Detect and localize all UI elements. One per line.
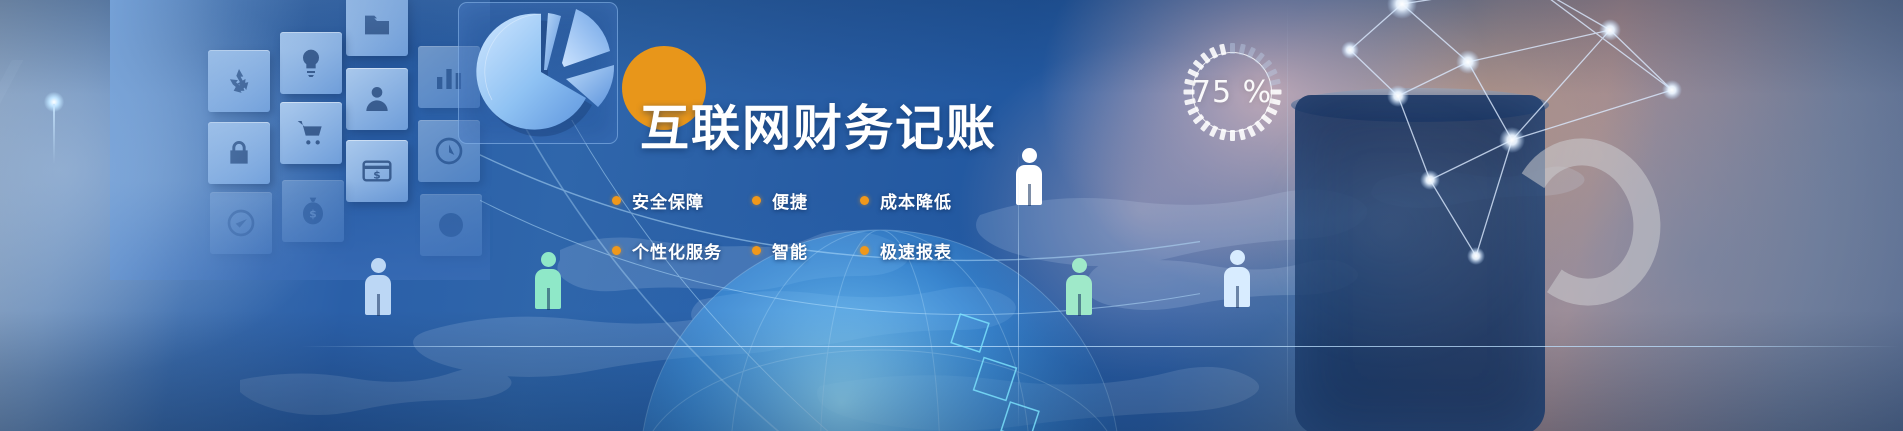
svg-text:$: $: [373, 168, 380, 181]
bullet-dot-icon: [860, 246, 869, 255]
feature-label: 便捷: [772, 188, 808, 213]
feature-label: 极速报表: [880, 238, 952, 263]
feature-label: 个性化服务: [632, 238, 722, 263]
icon-cube-cluster: $ $: [150, 0, 480, 270]
feature-label: 智能: [772, 238, 808, 263]
pie-chart-graphic: [466, 0, 616, 145]
svg-text:$: $: [309, 208, 316, 221]
feature-row-1: 安全保障 便捷 成本降低: [612, 182, 1032, 218]
banner-root: $ $: [0, 0, 1903, 431]
vertical-accent-line: [1018, 150, 1019, 430]
person-silhouette: [363, 258, 393, 320]
cube-shopping-cart-icon: [280, 102, 342, 164]
cube-lock-icon: [208, 122, 270, 184]
cube-credit-card-dollar-icon: $: [346, 140, 408, 202]
feature-list: 安全保障 便捷 成本降低 个性化服务 智能 极速报表: [612, 182, 1032, 268]
feature-item-cost-reduction[interactable]: 成本降低: [860, 188, 952, 213]
feature-item-convenient[interactable]: 便捷: [752, 188, 808, 213]
cube-money-bag-dollar-icon: $: [282, 180, 344, 242]
bullet-dot-icon: [612, 196, 621, 205]
feature-item-security[interactable]: 安全保障: [612, 188, 704, 213]
bullet-dot-icon: [612, 246, 621, 255]
feature-label: 成本降低: [880, 188, 952, 213]
person-silhouette: [1064, 258, 1094, 320]
cube-coin-dollar-icon: [420, 194, 482, 256]
feature-row-2: 个性化服务 智能 极速报表: [612, 232, 1032, 268]
cube-lightbulb-icon: [280, 32, 342, 94]
person-silhouette: [533, 252, 563, 314]
feature-item-fast-reports[interactable]: 极速报表: [860, 238, 952, 263]
page-title: 互联网财务记账: [640, 104, 997, 153]
person-silhouette: [1222, 250, 1252, 312]
feature-label: 安全保障: [632, 188, 704, 213]
vertical-accent-line: [1287, 0, 1288, 431]
gauge-value-label: 75 %: [1178, 38, 1286, 146]
bullet-dot-icon: [860, 196, 869, 205]
cube-recycle-icon: [208, 50, 270, 112]
bullet-dot-icon: [752, 246, 761, 255]
progress-gauge: 75 %: [1178, 38, 1286, 146]
bottom-divider-line: [300, 346, 1900, 347]
network-node-graphic: [1280, 0, 1710, 300]
feature-item-personalized-service[interactable]: 个性化服务: [612, 238, 722, 263]
cube-folder-icon: [346, 0, 408, 56]
feature-item-intelligent[interactable]: 智能: [752, 238, 808, 263]
cube-pie-chart-icon: [210, 192, 272, 254]
bullet-dot-icon: [752, 196, 761, 205]
gauge-stem-line: [53, 104, 55, 164]
cube-user-icon: [346, 68, 408, 130]
